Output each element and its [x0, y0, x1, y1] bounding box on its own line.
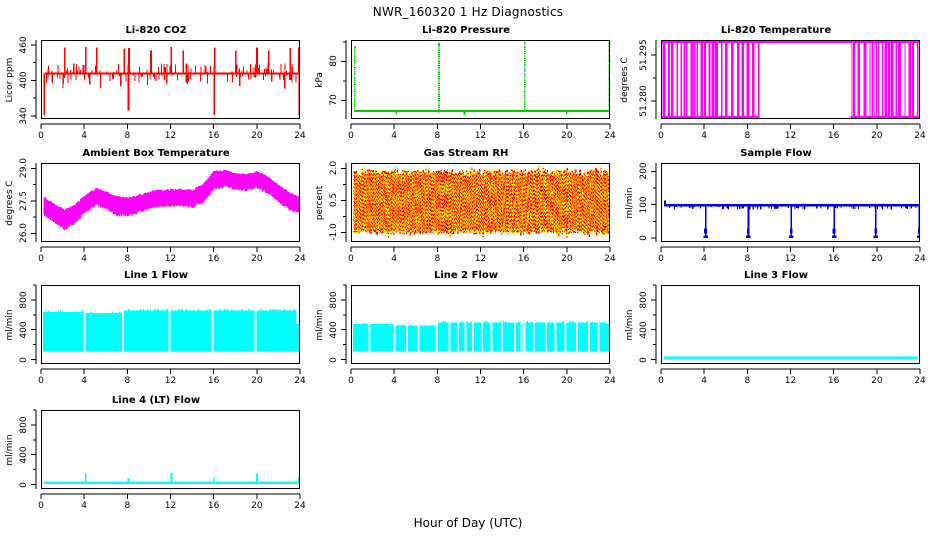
- x-tick-label: 4: [689, 131, 719, 141]
- panel-li-820-pressure: Li-820 Pressure7080kPa04812162024: [310, 25, 622, 147]
- x-tick-label: 0: [26, 254, 56, 264]
- x-tick-label: 12: [776, 254, 806, 264]
- panel-title: Sample Flow: [620, 148, 932, 159]
- x-tick-label: 20: [862, 131, 892, 141]
- plot-area: [351, 163, 610, 242]
- x-tick-label: 20: [242, 131, 272, 141]
- x-tick-label: 4: [69, 501, 99, 511]
- x-tick-label: 20: [242, 501, 272, 511]
- x-tick-label: 0: [336, 376, 366, 386]
- data-trace: [42, 41, 299, 118]
- plot-area: [661, 285, 920, 364]
- plot-area: [41, 163, 300, 242]
- x-tick-label: 4: [69, 254, 99, 264]
- x-tick-label: 16: [199, 501, 229, 511]
- x-tick-label: 8: [422, 254, 452, 264]
- global-x-axis-label: Hour of Day (UTC): [0, 516, 936, 530]
- panel-title: Line 2 Flow: [310, 270, 622, 281]
- panel-title: Line 4 (LT) Flow: [0, 395, 312, 406]
- x-tick-label: 24: [905, 131, 935, 141]
- y-axis-label: kPa: [315, 35, 325, 125]
- plot-area: [661, 40, 920, 119]
- x-tick-label: 8: [422, 131, 452, 141]
- x-tick-label: 12: [466, 376, 496, 386]
- x-tick-label: 16: [199, 254, 229, 264]
- data-trace: [662, 286, 919, 363]
- data-trace: [42, 286, 299, 363]
- x-tick-label: 16: [819, 254, 849, 264]
- plot-area: [41, 410, 300, 489]
- panel-title: Li-820 CO2: [0, 25, 312, 36]
- x-tick-label: 0: [26, 501, 56, 511]
- panel-title: Line 1 Flow: [0, 270, 312, 281]
- x-tick-label: 16: [199, 131, 229, 141]
- data-trace: [352, 164, 609, 241]
- y-axis-label: Licor ppm: [5, 35, 15, 125]
- data-trace: [662, 41, 919, 118]
- y-axis-label: ml/min: [5, 405, 15, 495]
- x-tick-label: 16: [819, 131, 849, 141]
- x-tick-label: 24: [285, 501, 315, 511]
- plot-area: [41, 285, 300, 364]
- x-tick-label: 4: [69, 376, 99, 386]
- y-axis-label: ml/min: [5, 280, 15, 370]
- x-tick-label: 0: [646, 131, 676, 141]
- x-tick-label: 8: [422, 376, 452, 386]
- x-tick-label: 24: [905, 376, 935, 386]
- y-tick-label: 51.280: [639, 79, 649, 123]
- x-tick-label: 12: [156, 376, 186, 386]
- x-tick-label: 8: [732, 376, 762, 386]
- x-tick-label: 16: [509, 131, 539, 141]
- x-tick-label: 8: [112, 501, 142, 511]
- plot-area: [351, 285, 610, 364]
- panel-sample-flow: Sample Flow0100200ml/min04812162024: [620, 148, 932, 270]
- panel-line-4-lt-flow: Line 4 (LT) Flow0400800ml/min04812162024: [0, 395, 312, 517]
- x-tick-label: 12: [466, 131, 496, 141]
- y-tick-label: 460: [19, 23, 29, 67]
- panel-line-3-flow: Line 3 Flow0400800ml/min04812162024: [620, 270, 932, 392]
- panel-title: Gas Stream RH: [310, 148, 622, 159]
- y-tick-label: 2.0: [329, 146, 339, 190]
- page-title: NWR_160320 1 Hz Diagnostics: [0, 5, 936, 19]
- x-tick-label: 4: [689, 376, 719, 386]
- x-tick-label: 0: [336, 254, 366, 264]
- x-tick-label: 12: [776, 376, 806, 386]
- plot-area: [351, 40, 610, 119]
- data-trace: [352, 41, 609, 118]
- x-tick-label: 20: [552, 254, 582, 264]
- x-tick-label: 20: [862, 376, 892, 386]
- x-tick-label: 20: [552, 131, 582, 141]
- y-tick-label: 51.295: [639, 33, 649, 77]
- x-tick-label: 20: [242, 254, 272, 264]
- x-tick-label: 4: [379, 131, 409, 141]
- x-tick-label: 20: [242, 376, 272, 386]
- panel-line-1-flow: Line 1 Flow0400800ml/min04812162024: [0, 270, 312, 392]
- y-tick-label: 70: [329, 78, 339, 122]
- y-tick-label: 800: [19, 403, 29, 447]
- data-trace: [662, 164, 919, 241]
- x-tick-label: 8: [112, 131, 142, 141]
- panel-gas-stream-rh: Gas Stream RH-1.00.52.0percent0481216202…: [310, 148, 622, 270]
- x-tick-label: 4: [69, 131, 99, 141]
- x-tick-label: 0: [26, 131, 56, 141]
- x-tick-label: 12: [156, 501, 186, 511]
- x-tick-label: 4: [379, 254, 409, 264]
- y-tick-label: 29.0: [19, 146, 29, 190]
- y-tick-label: 80: [329, 39, 339, 83]
- y-tick-label: 800: [329, 278, 339, 322]
- x-tick-label: 20: [552, 376, 582, 386]
- x-tick-label: 24: [905, 254, 935, 264]
- x-tick-label: 20: [862, 254, 892, 264]
- x-tick-label: 0: [646, 376, 676, 386]
- data-trace: [42, 164, 299, 241]
- panel-title: Li-820 Pressure: [310, 25, 622, 36]
- data-trace: [42, 411, 299, 488]
- x-tick-label: 8: [732, 131, 762, 141]
- y-tick-label: 800: [639, 278, 649, 322]
- y-axis-label: ml/min: [625, 158, 635, 248]
- y-axis-label: ml/min: [315, 280, 325, 370]
- panel-ambient-box-temperature: Ambient Box Temperature26.027.529.0degre…: [0, 148, 312, 270]
- x-tick-label: 16: [819, 376, 849, 386]
- x-tick-label: 4: [379, 376, 409, 386]
- y-axis-label: degrees C: [620, 35, 630, 125]
- panel-title: Ambient Box Temperature: [0, 148, 312, 159]
- x-tick-label: 12: [156, 254, 186, 264]
- panel-line-2-flow: Line 2 Flow0400800ml/min04812162024: [310, 270, 622, 392]
- y-tick-label: 800: [19, 278, 29, 322]
- panel-li-820-co2: Li-820 CO2340400460Licor ppm04812162024: [0, 25, 312, 147]
- x-tick-label: 8: [732, 254, 762, 264]
- x-tick-label: 8: [112, 376, 142, 386]
- y-axis-label: ml/min: [625, 280, 635, 370]
- y-axis-label: degrees C: [5, 158, 15, 248]
- x-tick-label: 12: [156, 131, 186, 141]
- x-tick-label: 8: [112, 254, 142, 264]
- panel-li-820-temperature: Li-820 Temperature51.28051.295degrees C0…: [620, 25, 932, 147]
- panel-title: Line 3 Flow: [620, 270, 932, 281]
- x-tick-label: 4: [689, 254, 719, 264]
- x-tick-label: 16: [509, 376, 539, 386]
- y-axis-label: percent: [315, 158, 325, 248]
- x-tick-label: 16: [509, 254, 539, 264]
- data-trace: [352, 286, 609, 363]
- x-tick-label: 0: [336, 131, 366, 141]
- plot-area: [661, 163, 920, 242]
- x-tick-label: 16: [199, 376, 229, 386]
- x-tick-label: 12: [466, 254, 496, 264]
- x-tick-label: 0: [646, 254, 676, 264]
- x-tick-label: 0: [26, 376, 56, 386]
- y-tick-label: 200: [639, 149, 649, 193]
- panel-title: Li-820 Temperature: [620, 25, 932, 36]
- x-tick-label: 12: [776, 131, 806, 141]
- plot-area: [41, 40, 300, 119]
